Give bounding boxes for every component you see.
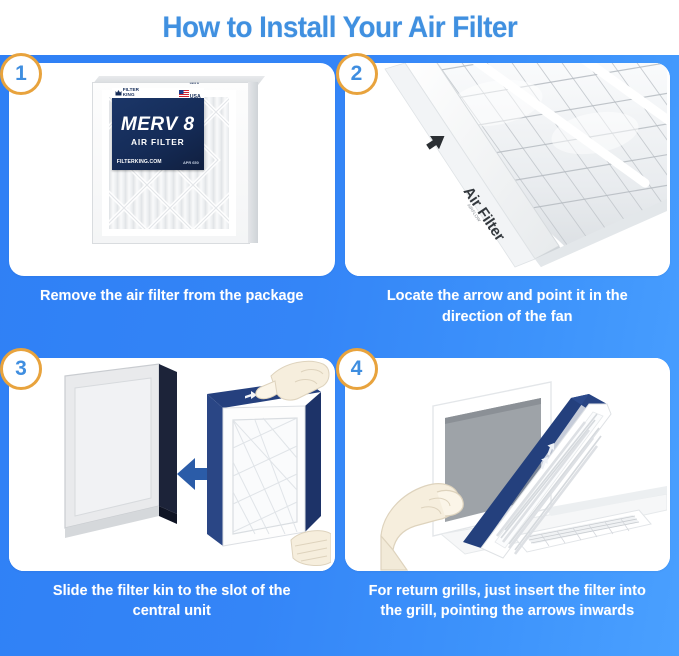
step-2-image-area: Air Filter AIRFLOW [345,63,671,276]
us-flag-icon [179,90,189,97]
brand-website: FILTERKING.COM [117,159,162,165]
pleated-filter-corner-photo: Air Filter AIRFLOW [345,63,671,276]
step-2-number-badge: 2 [336,53,378,95]
apr-rating: APR 650 [183,160,199,165]
step-3-card: 3 [9,358,335,571]
step-2-card: Air Filter AIRFLOW 2 [345,63,671,276]
filter-side-edge [248,82,258,243]
step-1-caption: Remove the air filter from the package [9,286,335,307]
step-3-number-badge: 3 [0,348,42,390]
product-label: FILTER KING [112,98,204,170]
step-2-caption: Locate the arrow and point it in the dir… [345,286,671,327]
page-title: How to Install Your Air Filter [162,11,517,45]
header: How to Install Your Air Filter [0,0,679,55]
made-in-usa-text: MADE IN USA [190,83,201,103]
brand-name: FILTER KING [123,88,139,98]
step-3-caption: Slide the filter kin to the slot of the … [9,581,335,622]
step-1-card: FILTER KING [9,63,335,276]
step-4-caption: For return grills, just insert the filte… [345,581,671,622]
steps-grid: FILTER KING [0,55,679,656]
product-type-label: AIR FILTER [112,137,204,147]
step-3: 3 Slide the filter kin to the slot of th… [9,358,335,653]
step-2: Air Filter AIRFLOW 2 Locate the arrow an… [345,63,671,358]
air-filter-product-photo: FILTER KING [84,76,260,251]
filter-frame: FILTER KING [92,82,250,244]
step-1: FILTER KING [9,63,335,358]
made-in-usa-badge: MADE IN USA [179,83,201,103]
crown-icon [115,89,122,97]
return-grill-insert-filter-illustration [345,358,671,571]
product-label-footer: FILTERKING.COM APR 650 [117,159,199,165]
step-1-number-badge: 1 [0,53,42,95]
infographic-page: How to Install Your Air Filter [0,0,679,656]
step-1-image-area: FILTER KING [9,63,335,276]
product-label-header: FILTER KING [112,88,204,98]
step-4-number-badge: 4 [336,348,378,390]
slide-filter-into-slot-illustration [9,358,335,571]
hand-bottom [291,530,331,565]
merv-rating: MERV 8 [112,115,204,134]
central-unit-slot [65,364,177,538]
filter-king-logo: FILTER KING [115,88,139,98]
step-4: 4 For return grills, just insert the fil… [345,358,671,653]
step-4-card: 4 [345,358,671,571]
